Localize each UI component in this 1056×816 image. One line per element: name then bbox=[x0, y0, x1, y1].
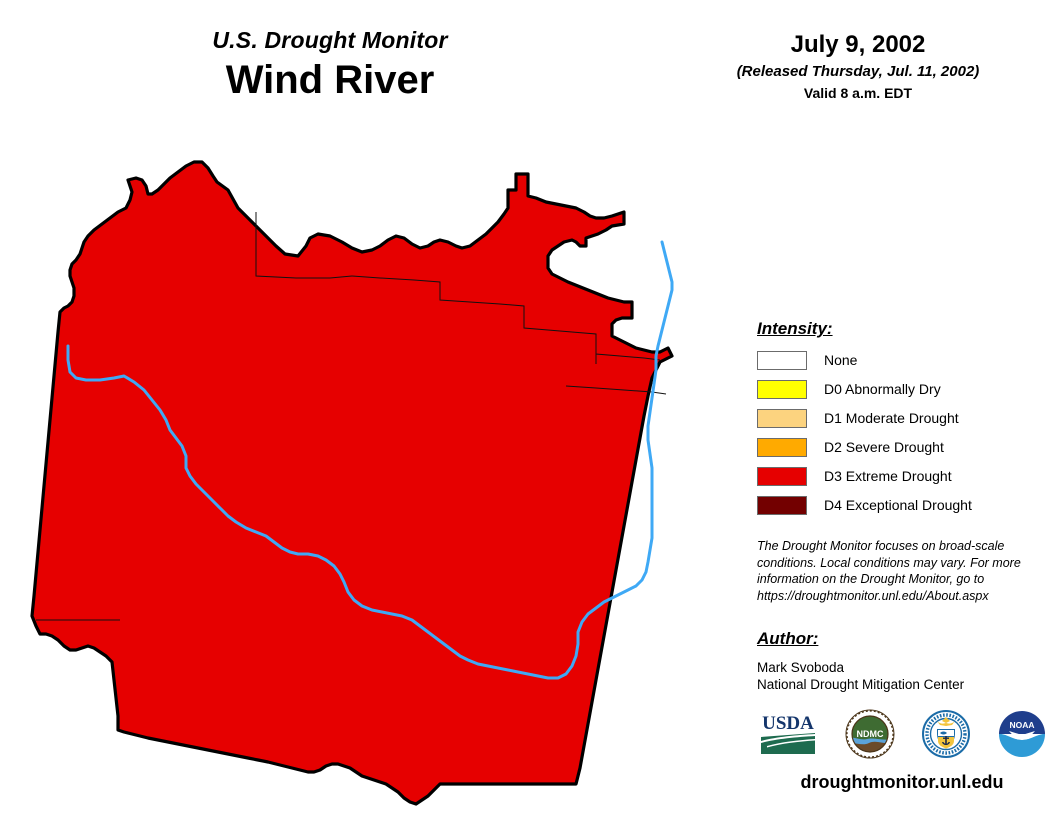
author-name: Mark Svoboda bbox=[757, 659, 1047, 676]
legend-heading: Intensity: bbox=[757, 318, 1047, 340]
legend-item-none: None bbox=[757, 348, 1047, 372]
usda-logo: USDA bbox=[757, 710, 819, 758]
region-title: Wind River bbox=[0, 56, 660, 104]
legend-label-d1: D1 Moderate Drought bbox=[824, 409, 959, 427]
map-date: July 9, 2002 bbox=[660, 30, 1056, 60]
legend-swatch-d3 bbox=[757, 467, 807, 486]
site-url: droughtmonitor.unl.edu bbox=[757, 770, 1047, 794]
region-polygon bbox=[32, 162, 672, 804]
legend-swatch-d1 bbox=[757, 409, 807, 428]
svg-text:NDMC: NDMC bbox=[857, 729, 884, 739]
header-left: U.S. Drought Monitor Wind River bbox=[0, 26, 660, 104]
legend-swatch-none bbox=[757, 351, 807, 370]
legend-swatch-d2 bbox=[757, 438, 807, 457]
author-heading: Author: bbox=[757, 628, 1047, 650]
disclaimer-text: The Drought Monitor focuses on broad-sca… bbox=[757, 538, 1027, 604]
legend-swatch-d4 bbox=[757, 496, 807, 515]
map-svg bbox=[0, 150, 740, 810]
svg-text:USDA: USDA bbox=[762, 713, 814, 734]
usdc-seal-logo bbox=[921, 709, 971, 759]
author-organization: National Drought Mitigation Center bbox=[757, 676, 1047, 693]
legend-item-d2: D2 Severe Drought bbox=[757, 435, 1047, 459]
logo-row: USDA NDMC bbox=[757, 706, 1047, 762]
legend-item-d1: D1 Moderate Drought bbox=[757, 406, 1047, 430]
valid-time: Valid 8 a.m. EDT bbox=[660, 83, 1056, 103]
legend-item-d3: D3 Extreme Drought bbox=[757, 464, 1047, 488]
legend-swatch-d0 bbox=[757, 380, 807, 399]
legend-label-d0: D0 Abnormally Dry bbox=[824, 380, 941, 398]
legend-item-d0: D0 Abnormally Dry bbox=[757, 377, 1047, 401]
release-date: (Released Thursday, Jul. 11, 2002) bbox=[660, 61, 1056, 82]
ndmc-logo: NDMC bbox=[845, 709, 895, 759]
author-block: Author: Mark Svoboda National Drought Mi… bbox=[757, 628, 1047, 693]
legend-label-d2: D2 Severe Drought bbox=[824, 438, 944, 456]
legend: Intensity: None D0 Abnormally Dry D1 Mod… bbox=[757, 318, 1047, 522]
legend-label-none: None bbox=[824, 351, 857, 369]
program-title: U.S. Drought Monitor bbox=[0, 26, 660, 54]
svg-text:NOAA: NOAA bbox=[1009, 720, 1034, 730]
header-right: July 9, 2002 (Released Thursday, Jul. 11… bbox=[660, 30, 1056, 103]
drought-map bbox=[0, 150, 740, 810]
legend-label-d3: D3 Extreme Drought bbox=[824, 467, 952, 485]
noaa-logo: NOAA bbox=[997, 709, 1047, 759]
legend-item-d4: D4 Exceptional Drought bbox=[757, 493, 1047, 517]
legend-label-d4: D4 Exceptional Drought bbox=[824, 496, 972, 514]
